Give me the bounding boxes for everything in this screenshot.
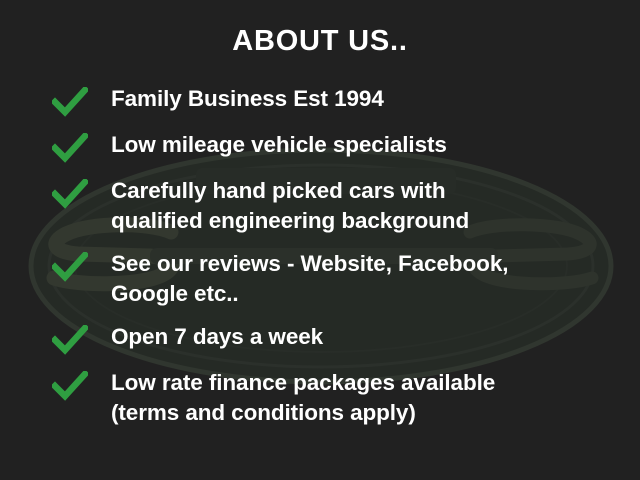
check-icon [52, 87, 88, 117]
check-icon [52, 179, 88, 209]
check-icon [52, 371, 88, 401]
list-item-label: Family Business Est 1994 [111, 84, 612, 114]
list-item-label: Open 7 days a week [111, 322, 612, 352]
page-title: ABOUT US.. [0, 24, 640, 58]
list-item-label: Low rate finance packages available (ter… [111, 368, 612, 428]
list-item: Family Business Est 1994 [52, 84, 612, 117]
list-item-label: Low mileage vehicle specialists [111, 130, 612, 160]
check-icon [52, 325, 88, 355]
list-item: Low mileage vehicle specialists [52, 130, 612, 163]
list-item: See our reviews - Website, Facebook, Goo… [52, 249, 612, 309]
list-item-label: See our reviews - Website, Facebook, Goo… [111, 249, 612, 309]
check-icon [52, 252, 88, 282]
list-item: Open 7 days a week [52, 322, 612, 355]
about-us-panel: ABOUT US.. Family Business Est 1994 Low … [0, 0, 640, 480]
check-icon [52, 133, 88, 163]
list-item-label: Carefully hand picked cars with qualifie… [111, 176, 612, 236]
feature-list: Family Business Est 1994 Low mileage veh… [52, 84, 612, 441]
list-item: Low rate finance packages available (ter… [52, 368, 612, 428]
list-item: Carefully hand picked cars with qualifie… [52, 176, 612, 236]
